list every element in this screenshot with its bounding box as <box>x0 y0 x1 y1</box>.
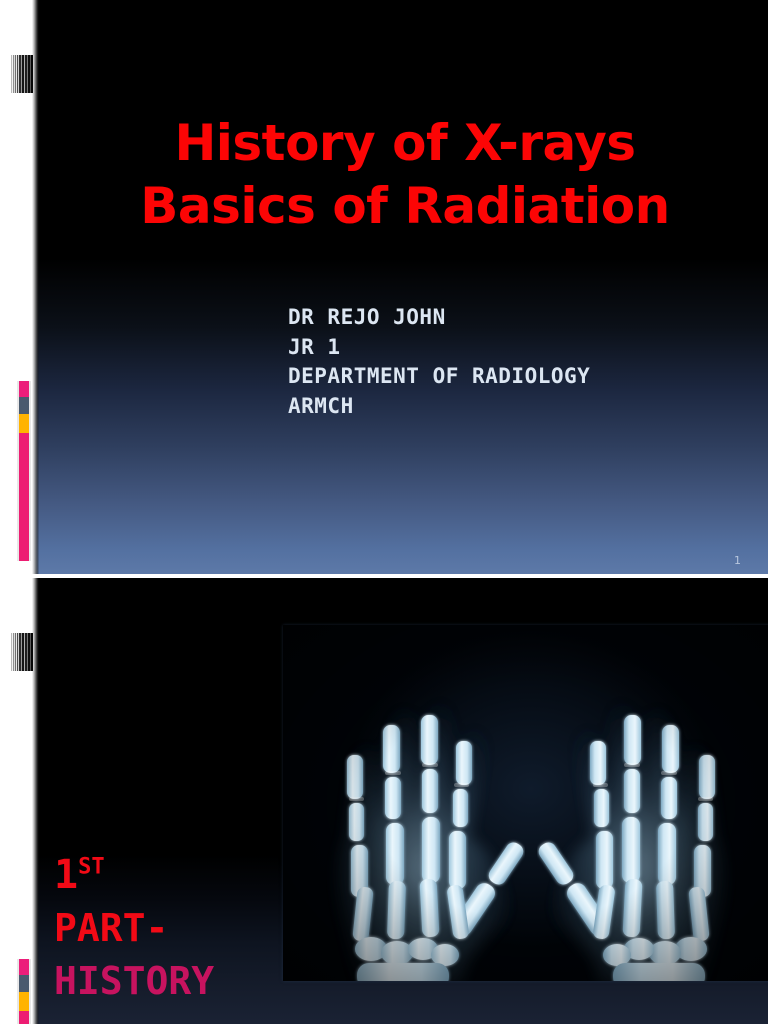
heading-ordinal-number: 1 <box>54 852 78 898</box>
slide-1-canvas: History of X-rays Basics of Radiation DR… <box>32 0 768 574</box>
chip-slate-icon <box>17 975 31 992</box>
xray-image-backdrop <box>283 625 768 981</box>
xray-hands-image <box>283 625 768 981</box>
chip-slate-icon <box>17 397 31 414</box>
slide-1-title: History of X-rays Basics of Radiation <box>72 112 738 238</box>
stripes-decoration-icon <box>11 55 33 93</box>
slide-1[interactable]: History of X-rays Basics of Radiation DR… <box>0 0 768 574</box>
xray-right-hand <box>537 637 768 981</box>
stripes-decoration-icon <box>11 633 33 671</box>
document-viewer[interactable]: History of X-rays Basics of Radiation DR… <box>0 0 768 1024</box>
subtitle-line-designation: JR 1 <box>288 333 590 363</box>
chip-long-pink-icon <box>17 1011 31 1024</box>
chip-amber-icon <box>17 414 31 433</box>
color-chips-decoration <box>17 381 31 561</box>
title-line-1: History of X-rays <box>72 112 738 175</box>
subtitle-line-author: DR REJO JOHN <box>288 303 590 333</box>
slide-2-edge-shadow <box>32 578 39 1024</box>
color-chips-decoration <box>17 959 31 1024</box>
heading-line-1: 1ST <box>54 849 269 902</box>
subtitle-line-institution: ARMCH <box>288 392 590 422</box>
heading-line-2: PART- <box>54 902 269 955</box>
slide-1-subtitle: DR REJO JOHN JR 1 DEPARTMENT OF RADIOLOG… <box>288 303 590 421</box>
xray-left-hand <box>293 637 525 981</box>
chip-pink-icon <box>17 381 31 397</box>
slide-2-heading: 1ST PART- HISTORY <box>54 849 269 1008</box>
slide-2-canvas: 1ST PART- HISTORY <box>32 578 768 1024</box>
slide-2[interactable]: 1ST PART- HISTORY <box>0 578 768 1024</box>
chip-long-pink-icon <box>17 433 31 561</box>
title-line-2: Basics of Radiation <box>72 175 738 238</box>
heading-ordinal-suffix: ST <box>78 855 105 880</box>
heading-line-3: HISTORY <box>54 955 269 1008</box>
subtitle-line-department: DEPARTMENT OF RADIOLOGY <box>288 362 590 392</box>
slide-1-page-number: 1 <box>734 554 741 567</box>
slide-1-edge-shadow <box>32 0 39 574</box>
chip-amber-icon <box>17 992 31 1011</box>
chip-pink-icon <box>17 959 31 975</box>
